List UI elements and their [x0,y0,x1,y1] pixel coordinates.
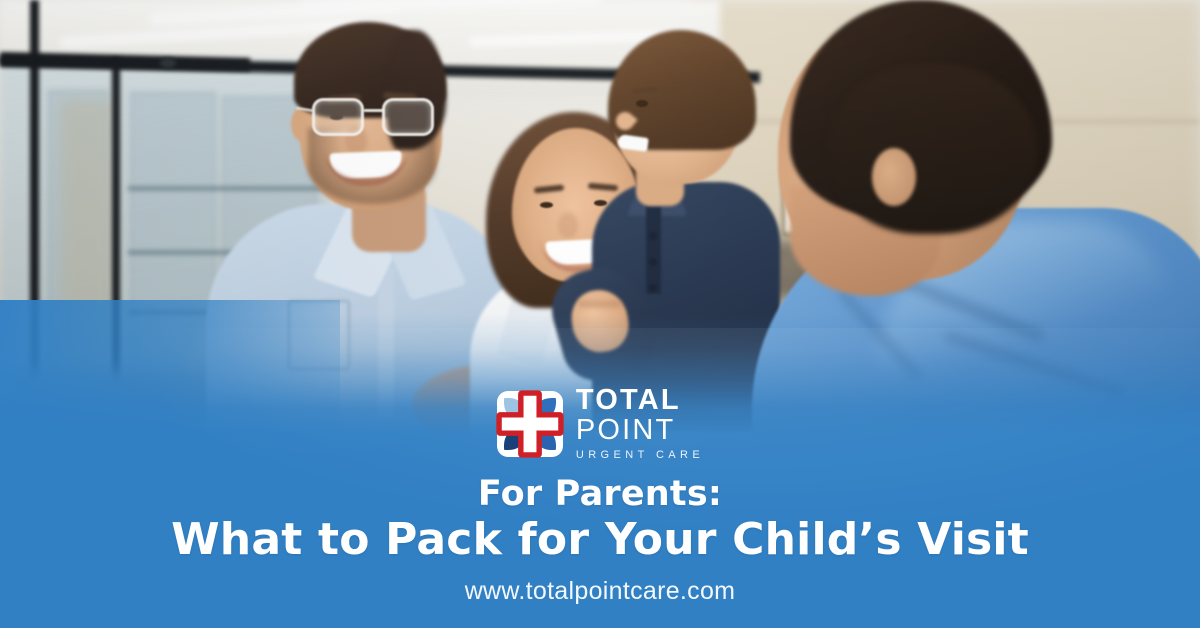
total-point-cross-petals-icon [496,390,564,458]
website-url[interactable]: www.totalpointcare.com [465,577,736,606]
logo-wordmark: TOTAL POINT URGENT CARE [576,387,704,460]
page-title: For Parents: What to Pack for Your Child… [171,475,1029,565]
headline-line-2: What to Pack for Your Child’s Visit [171,515,1029,565]
brand-logo[interactable]: TOTAL POINT URGENT CARE [496,387,704,460]
headline-line-1: For Parents: [171,475,1029,514]
logo-word-point: POINT [576,416,704,446]
banner-content: TOTAL POINT URGENT CARE For Parents: Wha… [0,0,1200,628]
logo-word-total: TOTAL [576,387,704,415]
logo-tagline: URGENT CARE [576,450,704,461]
marketing-banner: TOTAL POINT URGENT CARE For Parents: Wha… [0,0,1200,628]
